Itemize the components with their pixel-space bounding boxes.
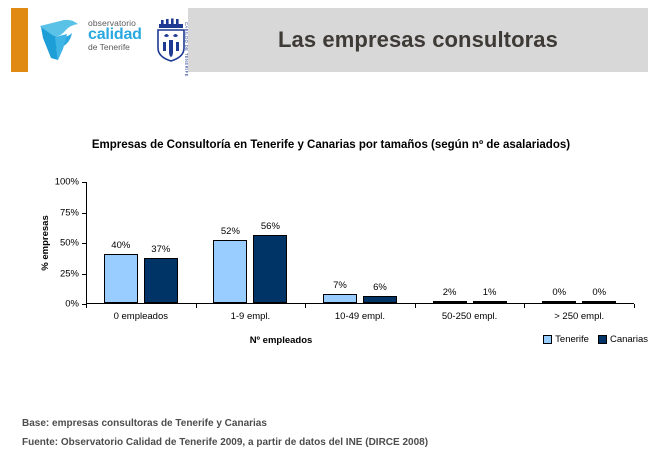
x-axis-tick xyxy=(415,304,416,308)
bar-tenerife[interactable] xyxy=(104,254,138,303)
bar-group-bars: 2%1% xyxy=(415,182,525,303)
bar-group: 2%1%50-250 empl. xyxy=(415,182,525,303)
legend-item-canarias[interactable]: Canarias xyxy=(598,334,648,345)
logo-wordmark: observatorio calidad de Tenerife xyxy=(88,19,150,52)
y-axis-title: % empresas xyxy=(40,215,51,270)
bar-value-label: 52% xyxy=(221,226,240,237)
x-axis-tick xyxy=(196,304,197,308)
bar-value-label: 0% xyxy=(552,287,566,298)
x-axis-title: Nº empleados xyxy=(86,335,476,346)
x-axis-tick xyxy=(634,304,635,308)
bar-value-label: 6% xyxy=(373,282,387,293)
bar-canarias[interactable] xyxy=(144,258,178,303)
footer-source: Fuente: Observatorio Calidad de Tenerife… xyxy=(22,434,642,453)
x-axis-tick xyxy=(305,304,306,308)
footer-notes: Base: empresas consultoras de Tenerife y… xyxy=(22,415,642,452)
bar-column[interactable]: 52% xyxy=(213,182,247,303)
legend-label: Tenerife xyxy=(555,334,589,345)
plot-area: % empresas 0%25%50%75%100% 40%37%0 emple… xyxy=(86,182,634,304)
bar-group: 0%0%> 250 empl. xyxy=(524,182,634,303)
x-axis-tick xyxy=(86,304,87,308)
bar-value-label: 37% xyxy=(151,244,170,255)
page-header: observatorio calidad de Tenerife CABILDO… xyxy=(0,0,662,80)
y-axis-label: 75% xyxy=(60,207,79,218)
bar-value-label: 7% xyxy=(333,280,347,291)
y-axis-label: 0% xyxy=(65,299,79,310)
x-axis-category-label: > 250 empl. xyxy=(514,311,644,322)
legend-swatch-icon xyxy=(543,335,552,344)
bar-canarias[interactable] xyxy=(473,301,507,303)
bar-column[interactable]: 0% xyxy=(542,182,576,303)
y-axis-label: 100% xyxy=(55,177,79,188)
bar-tenerife[interactable] xyxy=(323,294,357,303)
bar-column[interactable]: 6% xyxy=(363,182,397,303)
orange-accent-bar xyxy=(11,8,28,72)
bar-tenerife[interactable] xyxy=(213,240,247,303)
bar-group-bars: 7%6% xyxy=(305,182,415,303)
x-axis-line xyxy=(86,303,634,304)
bar-canarias[interactable] xyxy=(582,301,616,303)
logo-line-3: de Tenerife xyxy=(88,43,150,52)
bar-group-bars: 52%56% xyxy=(196,182,306,303)
y-axis-label: 25% xyxy=(60,268,79,279)
bird-logo-icon xyxy=(34,14,86,66)
chart-title: Empresas de Consultoría en Tenerife y Ca… xyxy=(66,138,596,154)
organization-logo: observatorio calidad de Tenerife CABILDO… xyxy=(34,12,184,68)
legend-swatch-icon xyxy=(598,335,607,344)
bar-column[interactable]: 56% xyxy=(253,182,287,303)
cabildo-crest-icon xyxy=(154,18,188,62)
bar-column[interactable]: 2% xyxy=(433,182,467,303)
bar-tenerife[interactable] xyxy=(433,301,467,303)
bar-value-label: 56% xyxy=(261,221,280,232)
footer-base: Base: empresas consultoras de Tenerife y… xyxy=(22,415,642,434)
header-banner: Las empresas consultoras xyxy=(188,8,648,72)
bar-column[interactable]: 7% xyxy=(323,182,357,303)
chart-legend: TenerifeCanarias xyxy=(543,334,648,345)
bar-canarias[interactable] xyxy=(363,296,397,303)
bar-group-bars: 40%37% xyxy=(86,182,196,303)
bar-column[interactable]: 37% xyxy=(144,182,178,303)
bar-group: 7%6%10-49 empl. xyxy=(305,182,415,303)
bar-value-label: 0% xyxy=(592,287,606,298)
bar-group: 52%56%1-9 empl. xyxy=(196,182,306,303)
page-title: Las empresas consultoras xyxy=(278,27,558,53)
bar-column[interactable]: 1% xyxy=(473,182,507,303)
bar-canarias[interactable] xyxy=(253,235,287,303)
legend-label: Canarias xyxy=(610,334,648,345)
legend-item-tenerife[interactable]: Tenerife xyxy=(543,334,589,345)
bar-column[interactable]: 40% xyxy=(104,182,138,303)
y-axis-label: 50% xyxy=(60,238,79,249)
bar-group: 40%37%0 empleados xyxy=(86,182,196,303)
bar-group-bars: 0%0% xyxy=(524,182,634,303)
bar-column[interactable]: 0% xyxy=(582,182,616,303)
bar-value-label: 1% xyxy=(483,287,497,298)
bar-tenerife[interactable] xyxy=(542,301,576,303)
bar-value-label: 2% xyxy=(443,287,457,298)
x-axis-tick xyxy=(524,304,525,308)
bar-value-label: 40% xyxy=(111,240,130,251)
bar-chart: Empresas de Consultoría en Tenerife y Ca… xyxy=(0,120,662,370)
